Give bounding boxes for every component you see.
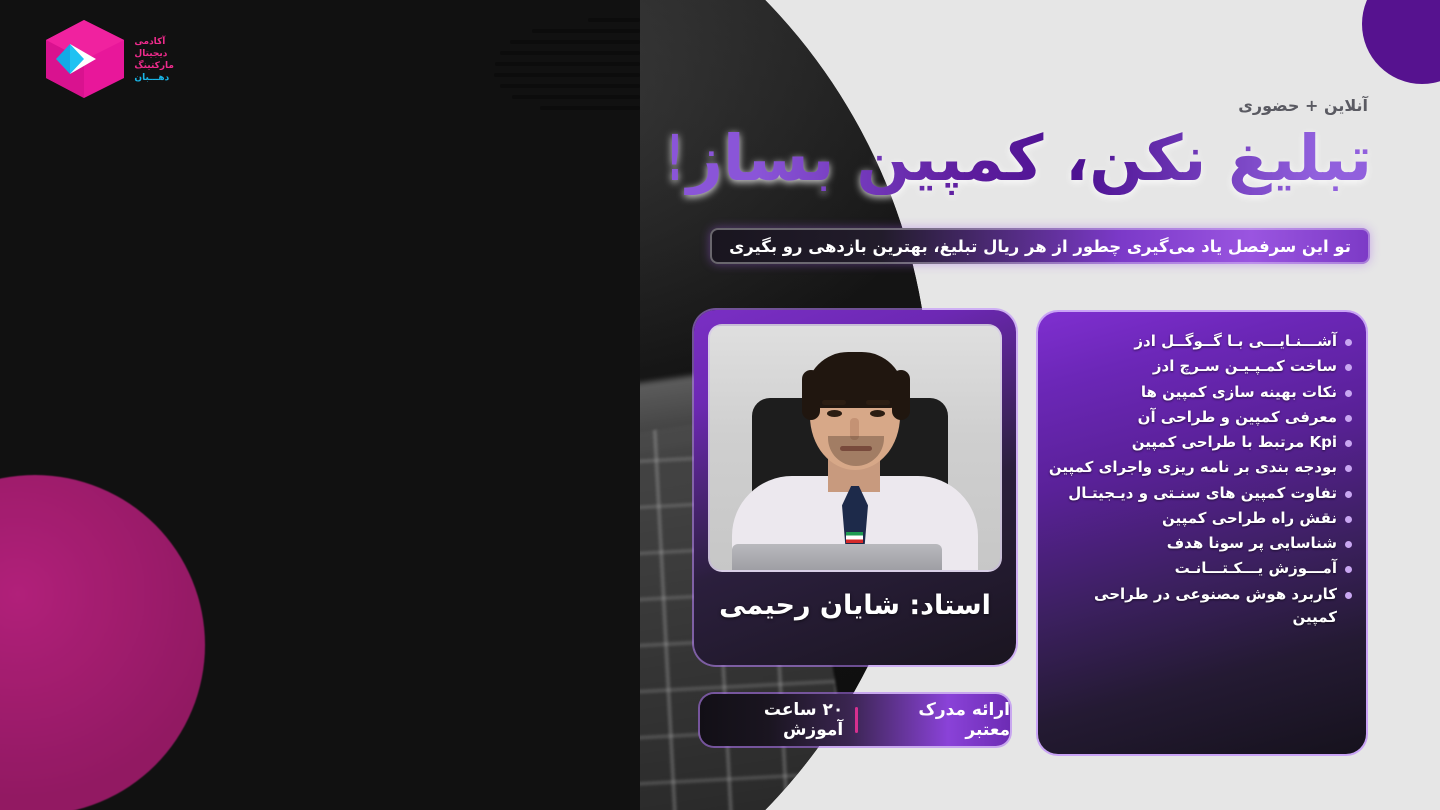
list-item: بودجه بندی بر نامه ریزی واجرای کمپین bbox=[1048, 456, 1352, 479]
instructor-photo bbox=[708, 324, 1002, 572]
brand-logo[interactable]: آکادمی دیجیتال مارکتینگ دهـــبان bbox=[14, 10, 174, 106]
stripe-decoration bbox=[455, 18, 640, 143]
logo-cube-icon bbox=[40, 16, 128, 100]
subtitle-text: تو این سرفصل یاد می‌گیری چطور از هر ریال… bbox=[729, 237, 1351, 256]
list-item: نکات بهینه سازی کمپین ها bbox=[1048, 381, 1352, 404]
topic-label: کاربرد هوش مصنوعی در طراحی کمپین bbox=[1048, 583, 1337, 630]
topics-card: آشـــنـایـــی بـا گــوگــل ادز ساخت کمـپ… bbox=[1038, 312, 1366, 754]
topic-label: نکات بهینه سازی کمپین ها bbox=[1141, 381, 1337, 404]
info-badge: ارائه مدرک معتبر ۲۰ ساعت آموزش bbox=[700, 694, 1010, 746]
list-item: Kpi مرتبط با طراحی کمپین bbox=[1048, 431, 1352, 454]
bullet-icon bbox=[1345, 541, 1352, 548]
certificate-label: ارائه مدرک معتبر bbox=[870, 700, 1010, 740]
topic-label: معرفی کمپین و طراحی آن bbox=[1138, 406, 1337, 429]
list-item: آمـــوزش یـــکـتـــانـت bbox=[1048, 557, 1352, 580]
logo-line-1: آکادمی bbox=[134, 37, 165, 48]
laptop bbox=[732, 544, 942, 572]
topics-list: آشـــنـایـــی بـا گــوگــل ادز ساخت کمـپ… bbox=[1048, 330, 1352, 629]
list-item: کاربرد هوش مصنوعی در طراحی کمپین bbox=[1048, 583, 1352, 630]
bullet-icon bbox=[1345, 516, 1352, 523]
bullet-icon bbox=[1345, 390, 1352, 397]
topic-label: آشـــنـایـــی بـا گــوگــل ادز bbox=[1134, 330, 1337, 353]
topic-label: Kpi مرتبط با طراحی کمپین bbox=[1132, 431, 1337, 454]
bullet-icon bbox=[1345, 440, 1352, 447]
topic-label: نقش راه طراحی کمپین bbox=[1162, 507, 1337, 530]
bullet-icon bbox=[1345, 339, 1352, 346]
logo-line-3: مارکتینگ bbox=[134, 61, 174, 72]
logo-wordmark: آکادمی دیجیتال مارکتینگ دهـــبان bbox=[134, 33, 174, 84]
list-item: تفاوت کمپین های سنـتی و دیـجیتـال bbox=[1048, 482, 1352, 505]
topic-label: آمـــوزش یـــکـتـــانـت bbox=[1175, 557, 1337, 580]
iran-flag-pin-icon bbox=[846, 532, 863, 543]
list-item: ساخت کمـپـیـن سـرچ ادز bbox=[1048, 355, 1352, 378]
hours-label: ۲۰ ساعت آموزش bbox=[700, 700, 843, 740]
topic-label: تفاوت کمپین های سنـتی و دیـجیتـال bbox=[1068, 482, 1337, 505]
instructor-card: استاد: شایان رحیمی bbox=[694, 310, 1016, 665]
list-item: نقش راه طراحی کمپین bbox=[1048, 507, 1352, 530]
topic-label: ساخت کمـپـیـن سـرچ ادز bbox=[1153, 355, 1337, 378]
bullet-icon bbox=[1345, 364, 1352, 371]
poster-canvas: AD bbox=[0, 0, 1440, 810]
bullet-icon bbox=[1345, 566, 1352, 573]
bullet-icon bbox=[1345, 491, 1352, 498]
bullet-icon bbox=[1345, 465, 1352, 472]
subtitle-banner: تو این سرفصل یاد می‌گیری چطور از هر ریال… bbox=[710, 228, 1370, 264]
topic-label: شناسایی پر سونا هدف bbox=[1167, 532, 1337, 555]
bullet-icon bbox=[1345, 415, 1352, 422]
page-title: تبلیغ نکن، کمپین بساز! bbox=[672, 124, 1372, 195]
list-item: شناسایی پر سونا هدف bbox=[1048, 532, 1352, 555]
list-item: آشـــنـایـــی بـا گــوگــل ادز bbox=[1048, 330, 1352, 353]
badge-divider bbox=[855, 707, 858, 733]
logo-line-2: دیجیتال bbox=[134, 49, 167, 60]
eyebrow-text: آنلاین + حضوری bbox=[1238, 96, 1368, 115]
instructor-name: استاد: شایان رحیمی bbox=[708, 590, 1002, 621]
bullet-icon bbox=[1345, 592, 1352, 599]
list-item: معرفی کمپین و طراحی آن bbox=[1048, 406, 1352, 429]
top-right-purple-circle bbox=[1362, 0, 1440, 84]
topic-label: بودجه بندی بر نامه ریزی واجرای کمپین bbox=[1049, 456, 1337, 479]
logo-line-4: دهـــبان bbox=[134, 73, 169, 84]
